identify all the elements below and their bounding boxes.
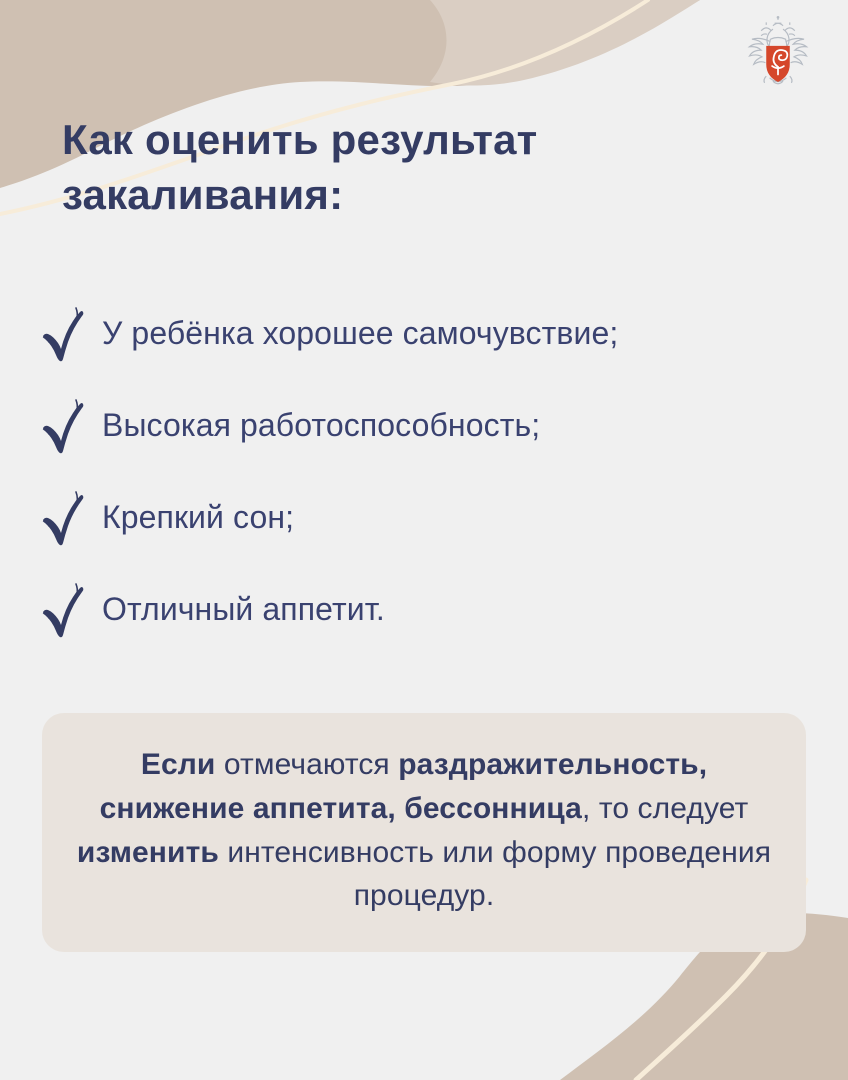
note-emphasis-change: изменить — [77, 836, 219, 869]
checklist: У ребёнка хорошее самочувствие; Высокая … — [38, 288, 828, 656]
note-text: Если отмечаются раздражительность, сниже… — [76, 743, 772, 918]
list-item-label: У ребёнка хорошее самочувствие; — [102, 316, 618, 351]
check-icon — [38, 581, 90, 639]
note-plain-2: , то следует — [582, 792, 748, 825]
note-plain-1: отмечаются — [215, 748, 398, 781]
rospotrebnadzor-emblem — [736, 14, 820, 98]
list-item: Крепкий сон; — [38, 472, 828, 564]
slide-root: Как оценить результат закаливания: У реб… — [0, 0, 848, 1080]
note-emphasis-if: Если — [141, 748, 216, 781]
top-left-tan-highlight — [430, 0, 700, 86]
check-icon — [38, 305, 90, 363]
list-item-label: Крепкий сон; — [102, 500, 294, 535]
list-item-label: Высокая работоспособность; — [102, 408, 540, 443]
list-item: Отличный аппетит. — [38, 564, 828, 656]
page-title: Как оценить результат закаливания: — [62, 112, 702, 223]
note-box: Если отмечаются раздражительность, сниже… — [42, 713, 806, 952]
check-icon — [38, 489, 90, 547]
note-plain-3: интенсивность или форму проведения проце… — [219, 836, 771, 913]
check-icon — [38, 397, 90, 455]
list-item: Высокая работоспособность; — [38, 380, 828, 472]
list-item-label: Отличный аппетит. — [102, 592, 385, 627]
list-item: У ребёнка хорошее самочувствие; — [38, 288, 828, 380]
